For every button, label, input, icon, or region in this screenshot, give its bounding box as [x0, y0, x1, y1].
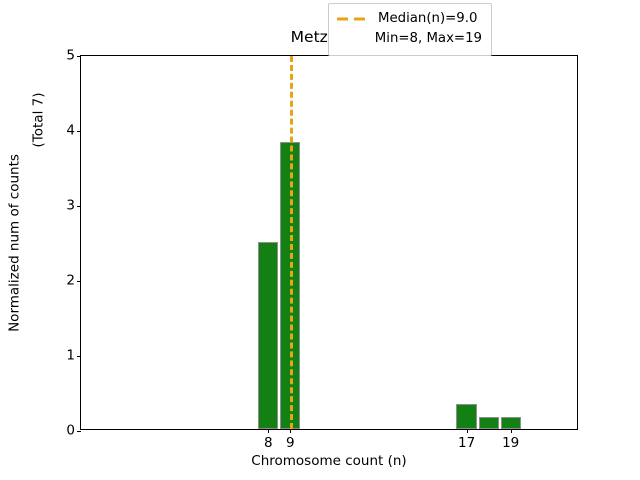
legend-label-minmax: Min=8, Max=19: [375, 31, 482, 47]
y-tick-label: 5: [66, 49, 75, 63]
y-tick-label: 1: [66, 349, 75, 363]
y-tick-mark: [77, 206, 81, 207]
x-tick-mark: [290, 429, 291, 433]
chart-legend: Median(n)=9.0 Min=8, Max=19: [328, 3, 492, 56]
y-axis-label: Normalized num of counts: [8, 154, 23, 332]
bar: [479, 417, 499, 429]
y-tick-mark: [77, 431, 81, 432]
y-tick-mark: [77, 356, 81, 357]
x-tick-mark: [268, 429, 269, 433]
y-tick-mark: [77, 281, 81, 282]
bar: [258, 242, 278, 430]
legend-item-minmax: Min=8, Max=19: [337, 29, 483, 49]
bars-layer: [81, 56, 577, 429]
bar: [456, 404, 476, 429]
plot-area: 012345 891719: [80, 55, 578, 430]
x-tick-label: 9: [286, 436, 295, 451]
y-tick-label: 2: [66, 274, 75, 288]
y-tick-label: 0: [66, 424, 75, 438]
dashed-line-icon: [337, 13, 369, 25]
x-axis-label: Chromosome count (n): [80, 453, 578, 469]
legend-label-median: Median(n)=9.0: [378, 11, 477, 27]
y-tick-mark: [77, 131, 81, 132]
y-axis-label-container: Normalized num of counts: [0, 55, 30, 430]
legend-item-median: Median(n)=9.0: [337, 9, 483, 29]
median-line: [290, 56, 293, 429]
y-tick-label: 4: [66, 124, 75, 138]
y-tick-mark: [77, 56, 81, 57]
x-tick-label: 19: [502, 436, 519, 451]
chart-figure: Metzgeria Normalized num of counts (Tota…: [0, 0, 640, 480]
y-axis-total-container: (Total 7): [28, 55, 50, 185]
x-tick-mark: [511, 429, 512, 433]
x-tick-mark: [467, 429, 468, 433]
bar: [501, 417, 521, 429]
x-tick-label: 17: [458, 436, 475, 451]
y-tick-label: 3: [66, 199, 75, 213]
x-tick-label: 8: [264, 436, 273, 451]
y-axis-total-label: (Total 7): [32, 93, 47, 148]
